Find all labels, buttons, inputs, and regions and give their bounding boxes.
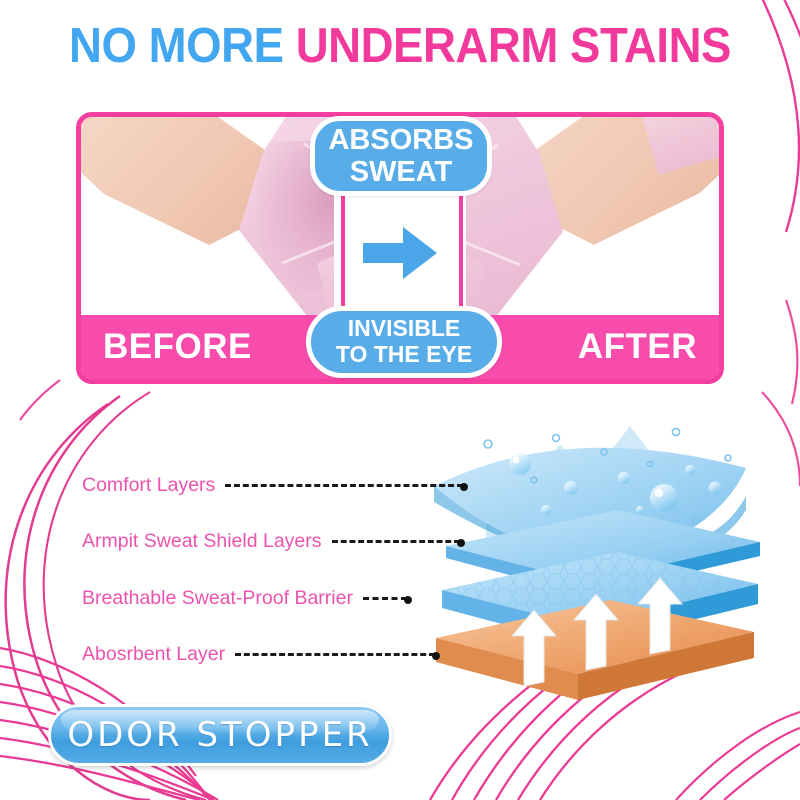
- odor-stopper-badge: ODOR STOPPER: [48, 704, 392, 766]
- layer-label: Comfort Layers: [82, 474, 215, 497]
- leader-line: [235, 653, 435, 656]
- badge-invisible-to-the-eye: INVISIBLE TO THE EYE: [306, 306, 502, 378]
- badge-absorbs-line1: ABSORBS: [328, 124, 473, 156]
- leader-line: [332, 540, 460, 543]
- badge-absorbs-line2: SWEAT: [328, 156, 473, 188]
- badge-invisible-line1: INVISIBLE: [336, 316, 472, 342]
- list-item: Abosrbent Layer: [82, 643, 435, 666]
- list-item: Armpit Sweat Shield Layers: [82, 530, 460, 553]
- badge-invisible-line2: TO THE EYE: [336, 342, 472, 368]
- arrow-right-icon: [363, 225, 437, 281]
- list-item: Comfort Layers: [82, 474, 463, 497]
- layer-label: Abosrbent Layer: [82, 643, 225, 666]
- headline-pink: UNDERARM STAINS: [296, 19, 731, 73]
- odor-stopper-label: ODOR STOPPER: [67, 715, 372, 755]
- layer-label: Breathable Sweat-Proof Barrier: [82, 587, 353, 610]
- layer-label: Armpit Sweat Shield Layers: [82, 530, 322, 553]
- list-item: Breathable Sweat-Proof Barrier: [82, 587, 407, 610]
- badge-absorbs-sweat: ABSORBS SWEAT: [310, 116, 492, 196]
- layer-illustration: [428, 424, 768, 734]
- promo-graphic: NO MORE UNDERARM STAINS: [0, 0, 800, 800]
- leader-line: [363, 597, 407, 600]
- headline-blue: NO MORE: [69, 19, 283, 73]
- leader-line: [225, 484, 463, 487]
- page-title: NO MORE UNDERARM STAINS: [28, 22, 772, 71]
